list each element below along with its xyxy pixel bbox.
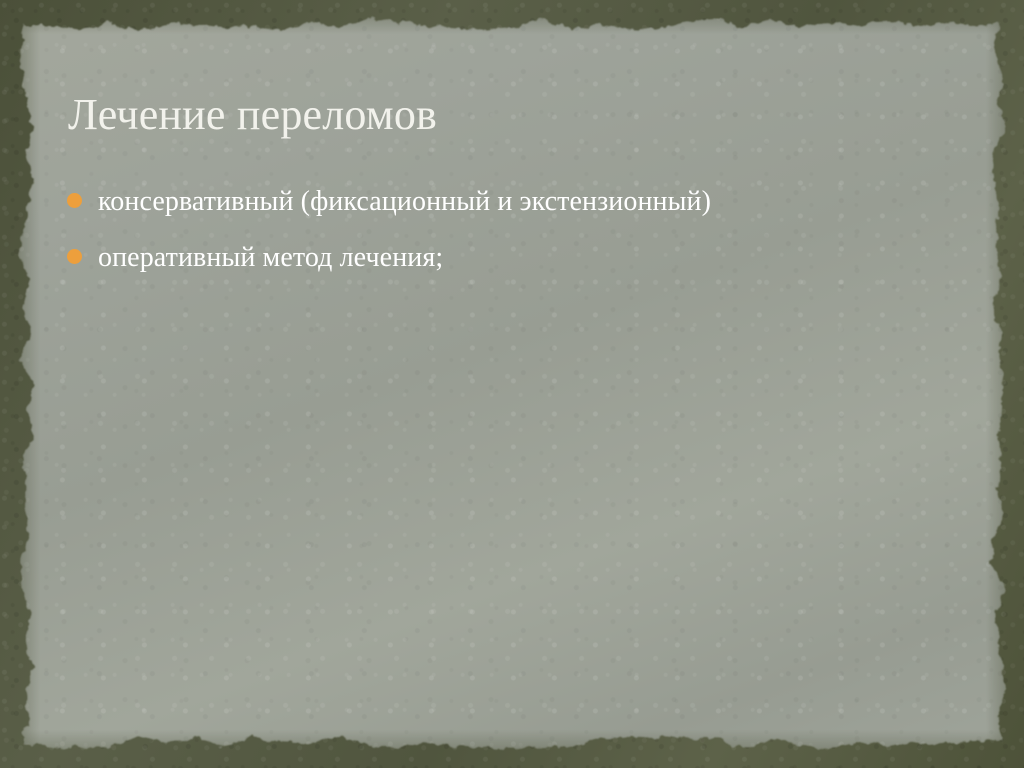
slide-title: Лечение переломов [68, 90, 948, 139]
slide-content: Лечение переломов консервативный (фиксац… [0, 0, 1024, 768]
bullet-dot-icon [67, 193, 82, 208]
list-item: консервативный (фиксационный и экстензио… [62, 182, 762, 222]
list-item-label: консервативный (фиксационный и экстензио… [98, 186, 711, 217]
list-item: оперативный метод лечения; [62, 238, 762, 278]
presentation-slide: Лечение переломов консервативный (фиксац… [0, 0, 1024, 768]
bullet-list: консервативный (фиксационный и экстензио… [62, 182, 762, 294]
bullet-dot-icon [67, 249, 82, 264]
list-item-label: оперативный метод лечения; [98, 242, 443, 273]
